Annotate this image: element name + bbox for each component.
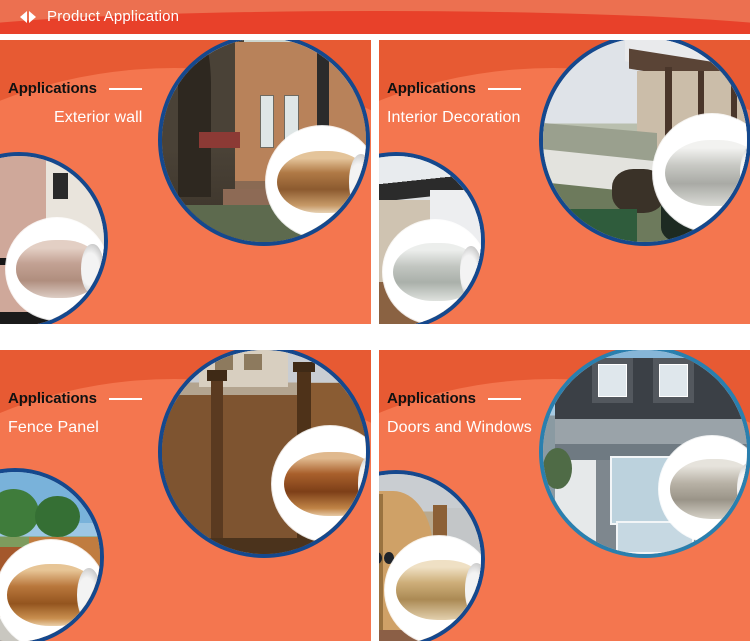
applications-label: Applications [387,80,476,97]
application-name: Interior Decoration [387,109,687,127]
applications-label: Applications [8,80,97,97]
application-card-fence-panel[interactable]: Applications Fence Panel [0,350,371,641]
applications-heading-row: Applications [8,390,308,407]
applications-heading-row: Applications [387,80,687,97]
brick-pattern-steel-coil [6,218,108,320]
heading-dash [488,398,521,400]
application-name: Exterior wall [54,109,308,127]
main-photo-circle[interactable] [539,350,750,558]
page-title: Product Application [47,8,179,26]
applications-heading-row: Applications [387,390,687,407]
wood-grain-steel-coil [266,126,370,238]
column-gutter [371,40,379,324]
card-caption-block: Applications Exterior wall [8,80,308,127]
left-right-arrows-icon [18,11,38,24]
applications-label: Applications [387,390,476,407]
main-photo-circle[interactable] [539,40,750,246]
applications-label: Applications [8,390,97,407]
grey-steel-coil [383,220,485,324]
card-caption-block: Applications Doors and Windows [387,390,687,437]
applications-heading-row: Applications [8,80,308,97]
card-caption-block: Applications Fence Panel [8,390,308,437]
application-card-exterior-wall[interactable]: Applications Exterior wall [0,40,371,324]
heading-dash [109,88,142,90]
triangle-right-icon [29,11,36,23]
heading-dash [488,88,521,90]
application-name: Fence Panel [8,419,308,437]
heading-dash [109,398,142,400]
sub-photo-circle[interactable] [0,152,108,324]
application-card-doors-and-windows[interactable]: Applications Doors and Windows [379,350,750,641]
application-name: Doors and Windows [387,419,687,437]
page-header: Product Application [0,0,750,34]
main-photo-circle[interactable] [158,40,370,246]
application-card-grid: Applications Exterior wall [0,34,750,641]
card-row-1: Applications Exterior wall [0,40,750,324]
sub-photo-circle[interactable] [379,152,485,324]
application-card-interior-decoration[interactable]: Applications Interior Decoration [379,40,750,324]
sub-photo-circle[interactable] [0,468,104,641]
main-photo-circle[interactable] [158,350,370,558]
card-row-2: Applications Fence Panel [0,350,750,641]
bamboo-wood-steel-coil [385,536,485,641]
light-wood-grain-steel-coil [0,540,104,641]
triangle-left-icon [20,11,27,23]
column-gutter [371,350,379,641]
card-caption-block: Applications Interior Decoration [387,80,687,127]
sub-photo-circle[interactable] [379,470,485,641]
